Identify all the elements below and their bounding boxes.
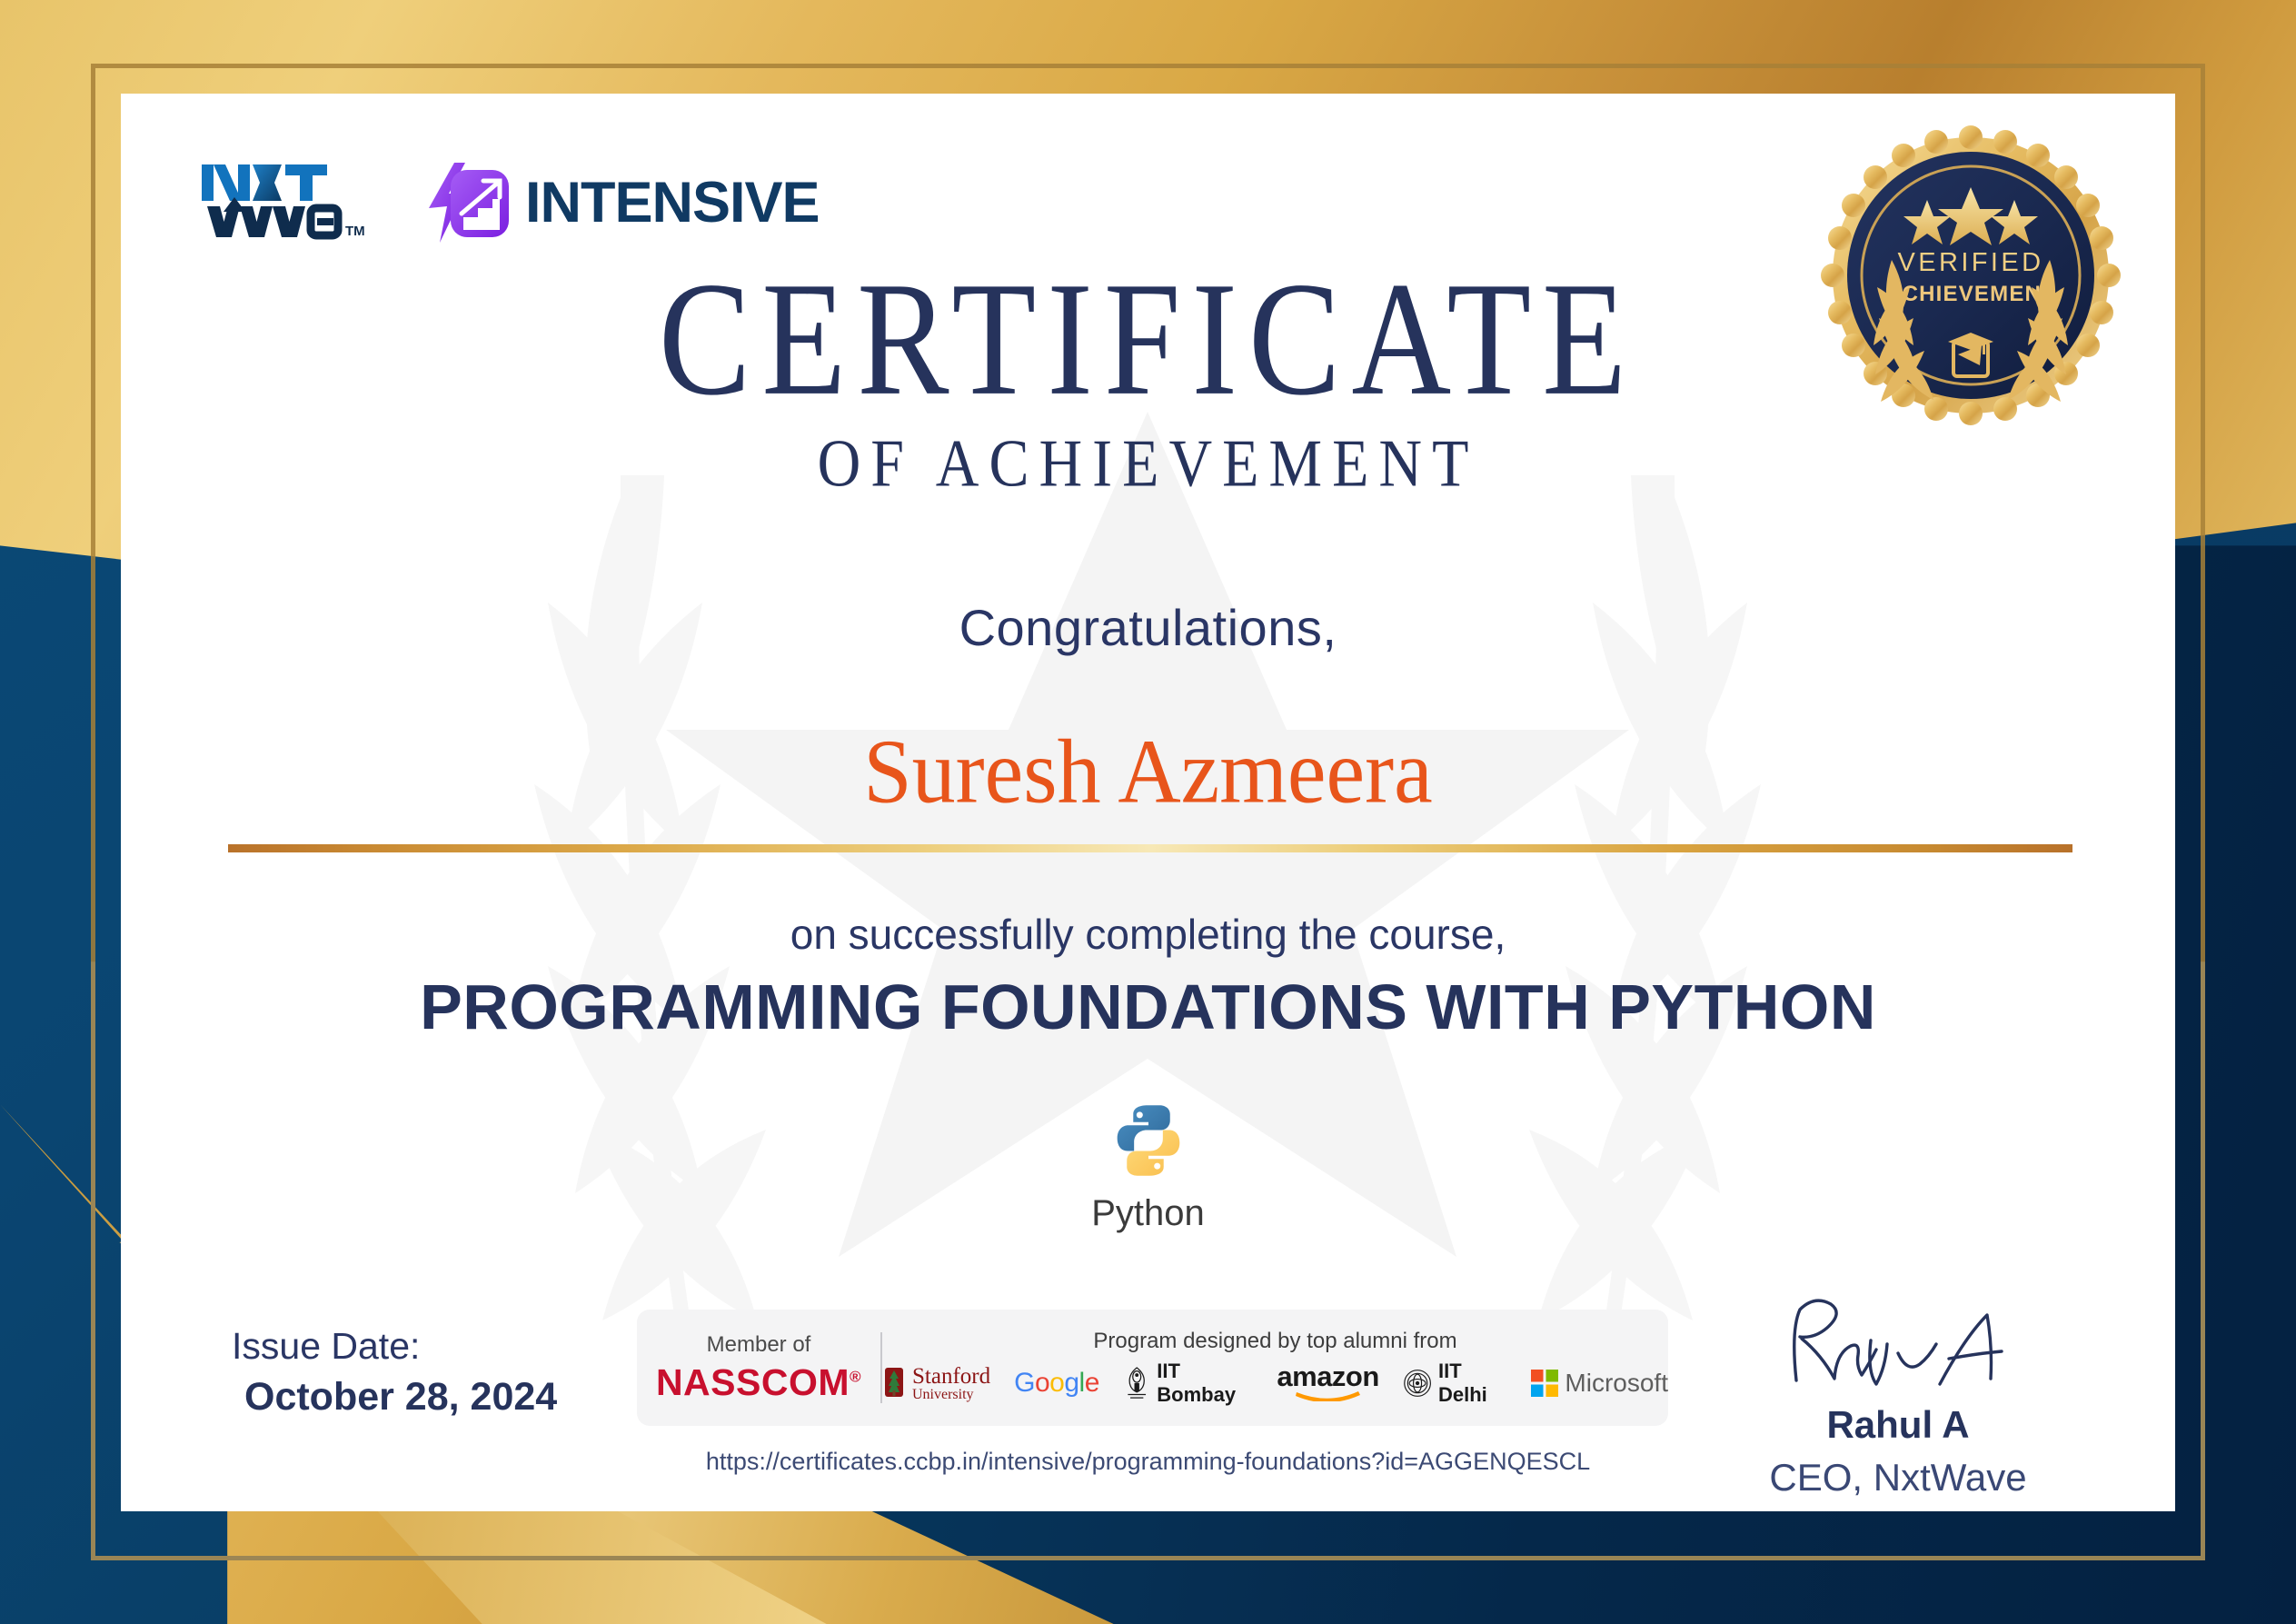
member-of-block: Member of NASSCOM® — [637, 1332, 880, 1404]
issue-date-value: October 28, 2024 — [232, 1375, 557, 1420]
nxtwave-logo: TM — [198, 157, 380, 248]
microsoft-label: Microsoft — [1565, 1369, 1668, 1398]
iit-bombay-label: IIT Bombay — [1157, 1360, 1253, 1407]
page-subtitle: OF ACHIEVEMENT — [121, 425, 2175, 503]
technology-label: Python — [1091, 1193, 1205, 1234]
intensive-wordmark: INTENSIVE — [525, 174, 820, 232]
partner-logo-amazon: amazon — [1277, 1365, 1378, 1400]
title-block: CERTIFICATE OF ACHIEVEMENT — [121, 257, 2175, 499]
partner-logo-stanford: Stanford University — [882, 1365, 990, 1402]
amazon-wordmark-icon: amazon — [1277, 1365, 1378, 1389]
iit-delhi-label: IIT Delhi — [1438, 1360, 1507, 1407]
intensive-logo: INTENSIVE — [427, 161, 820, 244]
stanford-tree-icon — [882, 1366, 906, 1400]
iit-delhi-crest-icon — [1403, 1367, 1432, 1400]
python-icon — [1108, 1101, 1188, 1181]
stanford-sub: University — [912, 1388, 990, 1402]
svg-text:TM: TM — [345, 224, 365, 239]
alumni-logo-row: Stanford University Google — [882, 1360, 1668, 1407]
signatory-name: Rahul A — [1707, 1403, 2089, 1447]
certificate-root: TM — [0, 0, 2296, 1624]
partner-logo-microsoft: Microsoft — [1531, 1369, 1668, 1398]
partner-logo-iit-bombay: IIT Bombay — [1123, 1360, 1254, 1407]
intensive-icon — [427, 161, 511, 244]
partner-logo-google: Google — [1014, 1368, 1099, 1399]
completion-text: on successfully completing the course, — [121, 910, 2175, 959]
amazon-smile-icon — [1295, 1390, 1362, 1401]
registered-mark: ® — [850, 1368, 861, 1385]
gold-divider — [228, 844, 2072, 852]
course-name: PROGRAMMING FOUNDATIONS WITH PYTHON — [121, 971, 2175, 1043]
congratulations-text: Congratulations, — [121, 598, 2175, 657]
member-of-label: Member of — [707, 1332, 811, 1358]
stanford-name: Stanford — [912, 1365, 990, 1388]
signature-block: Rahul A CEO, NxtWave — [1707, 1293, 2089, 1499]
page-title: CERTIFICATE — [121, 257, 2175, 420]
issue-date-label: Issue Date: — [232, 1325, 557, 1368]
partners-card: Member of NASSCOM® Program designed by t… — [637, 1310, 1668, 1426]
nasscom-wordmark: NASSCOM — [656, 1361, 850, 1403]
certificate-paper: TM — [121, 94, 2175, 1511]
partner-logo-iit-delhi: IIT Delhi — [1403, 1360, 1508, 1407]
iit-bombay-crest-icon — [1123, 1363, 1150, 1403]
recipient-name: Suresh Azmeera — [121, 718, 2175, 824]
issue-date-block: Issue Date: October 28, 2024 — [232, 1325, 557, 1420]
nasscom-logo: NASSCOM® — [656, 1361, 861, 1404]
google-wordmark-icon: Google — [1014, 1368, 1099, 1399]
microsoft-squares-icon — [1531, 1370, 1558, 1397]
header-logos: TM — [198, 157, 820, 248]
alumni-block: Program designed by top alumni from Stan… — [882, 1329, 1668, 1407]
technology-block: Python — [121, 1101, 2175, 1234]
signature-mark-icon — [1762, 1293, 2034, 1393]
alumni-label: Program designed by top alumni from — [1093, 1329, 1456, 1354]
signatory-role: CEO, NxtWave — [1707, 1456, 2089, 1499]
